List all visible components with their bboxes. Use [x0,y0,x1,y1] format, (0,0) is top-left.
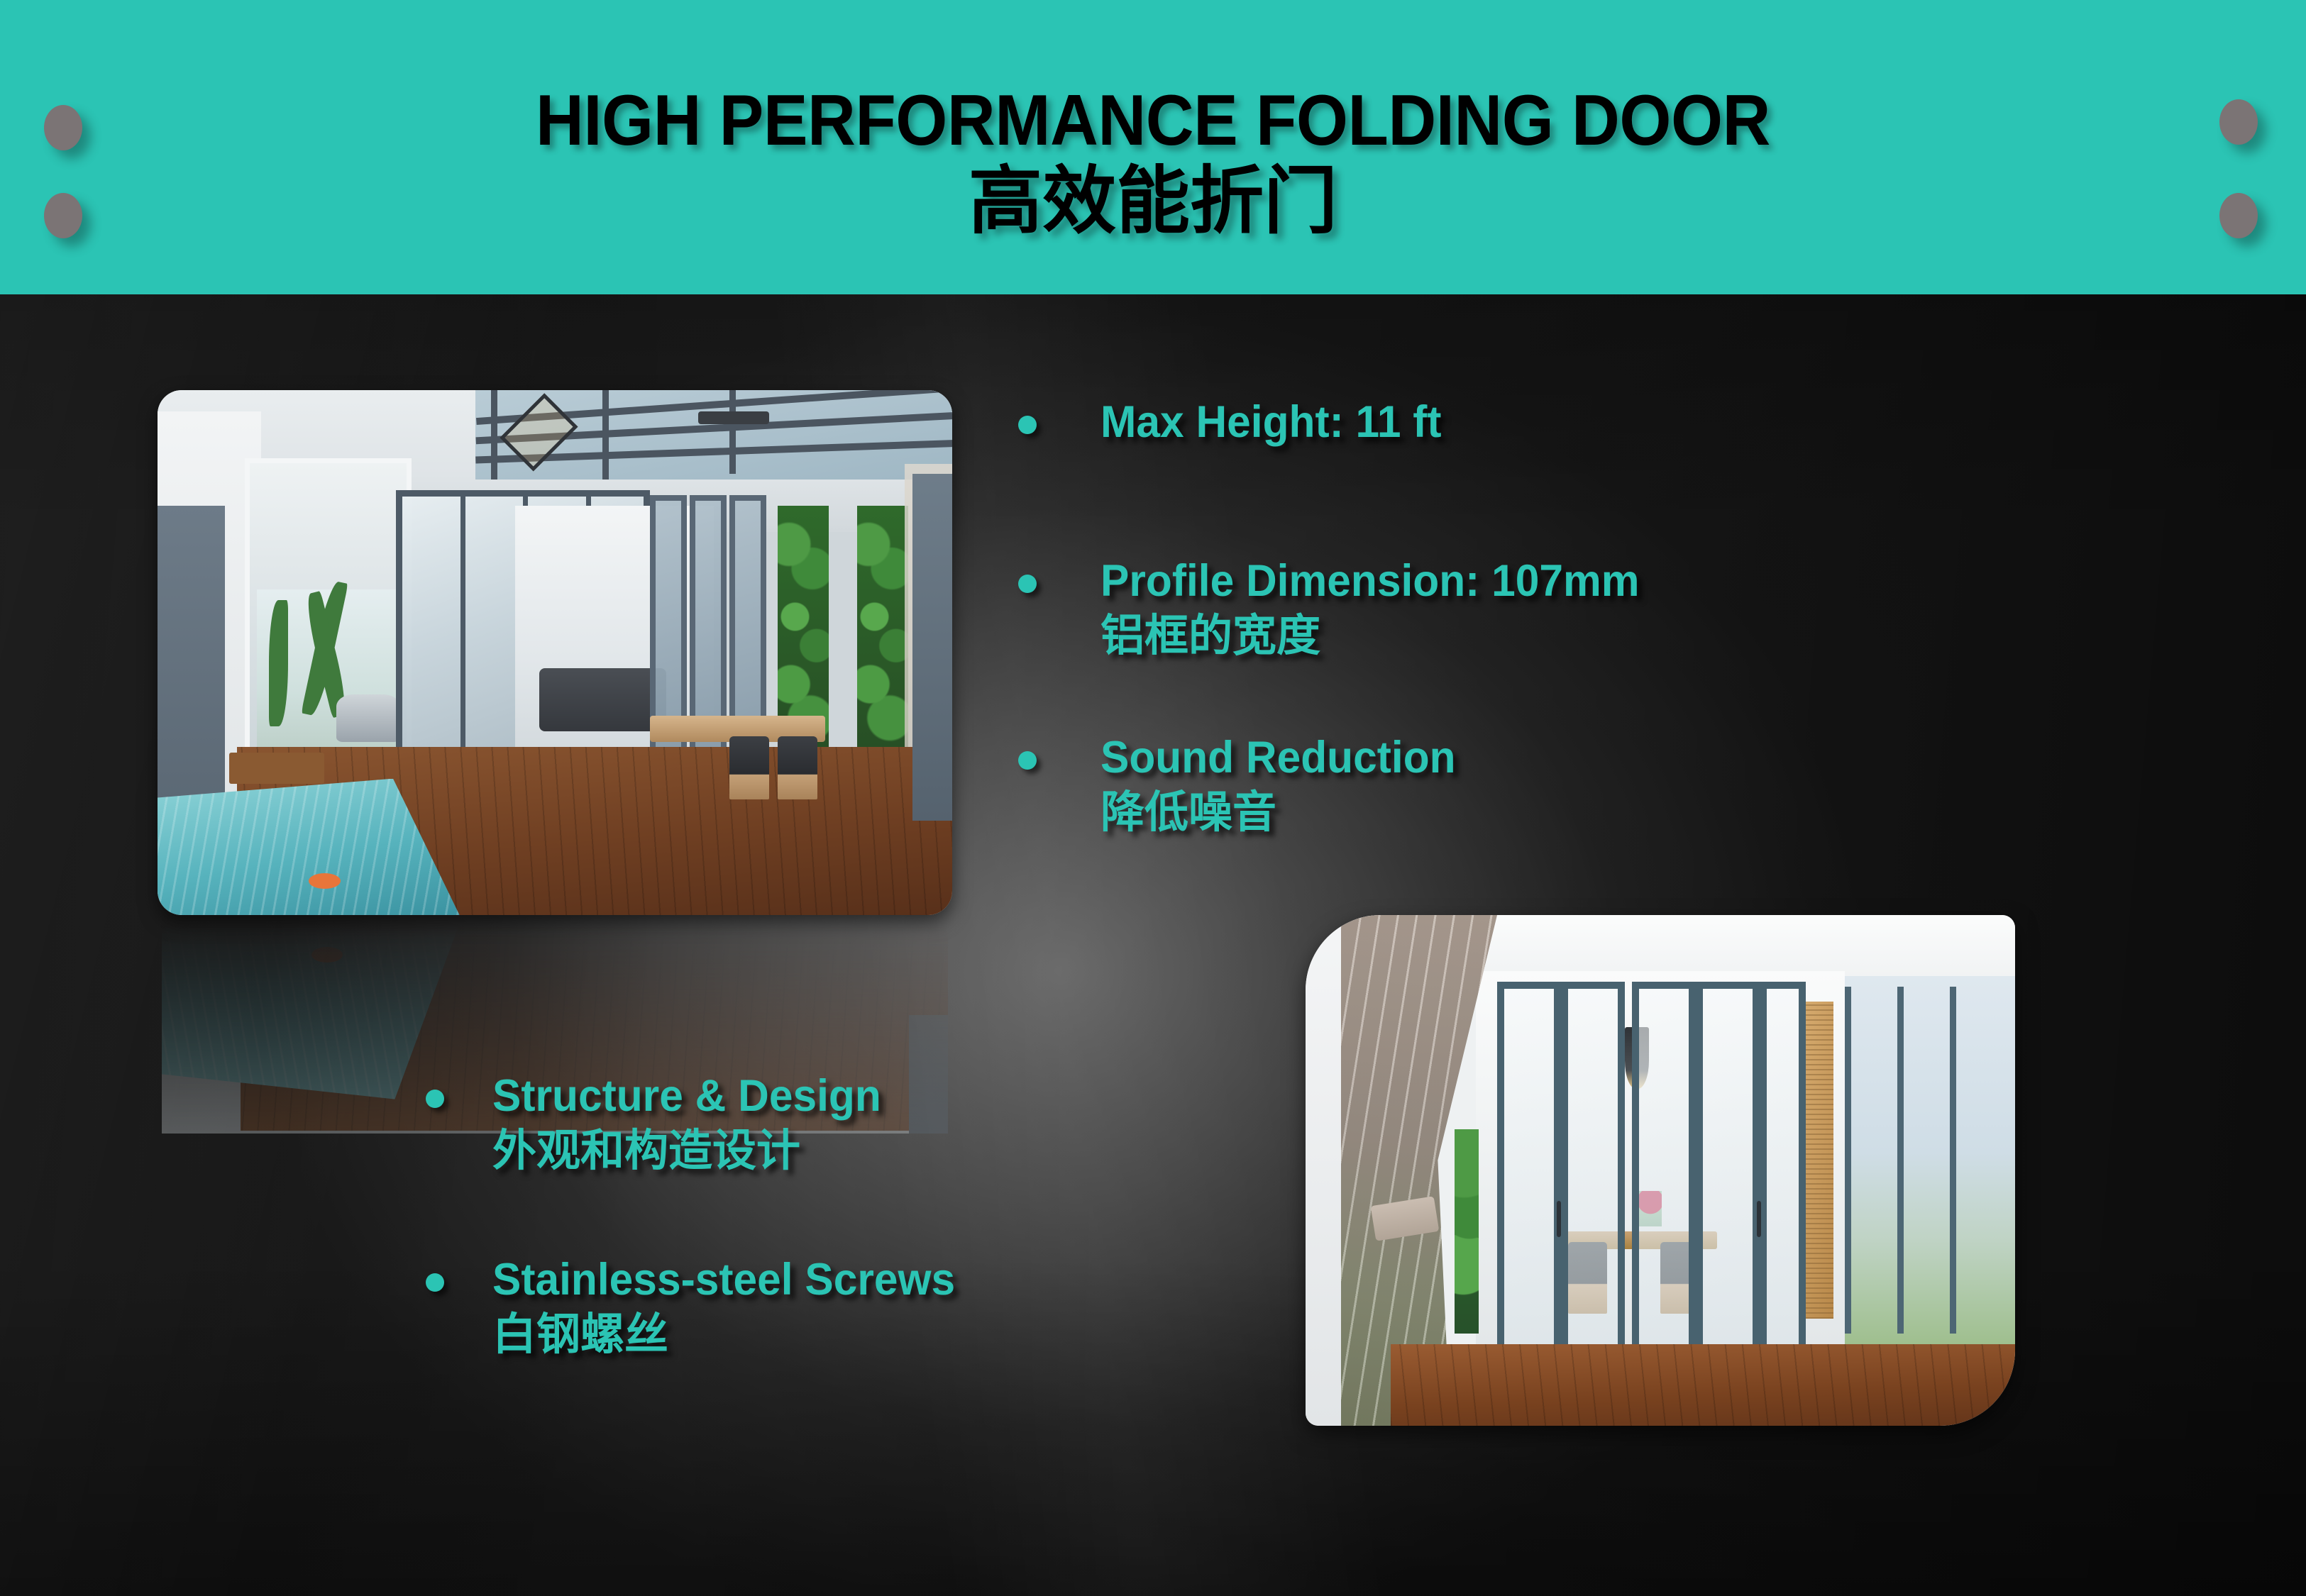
feature-label-zh: 白钢螺丝 [492,1307,974,1361]
header-title-group: HIGH PERFORMANCE FOLDING DOOR 高效能折门 [0,85,2306,242]
folding-door-curtain-photo [1306,915,2015,1426]
feature-label-zh: 降低噪音 [1100,785,1470,839]
list-item[interactable]: Max Height: 11 ft [1018,397,2182,448]
bullet-dot-icon [426,1273,444,1292]
feature-label-en: Profile Dimension: 107mm [1100,556,1640,607]
feature-list-right: Max Height: 11 ft Profile Dimension: 107… [1018,397,2182,839]
list-item[interactable]: Stainless-steel Screws 白钢螺丝 [426,1255,1313,1361]
list-item[interactable]: Sound Reduction 降低噪音 [1018,733,2182,838]
photo-1-scene [158,390,952,915]
feature-label-en: Stainless-steel Screws [492,1255,955,1306]
feature-label-zh: 外观和构造设计 [492,1124,898,1177]
list-item[interactable]: Structure & Design 外观和构造设计 [426,1071,1313,1177]
folding-door-interior-pool-photo [158,390,952,915]
feature-label-en: Max Height: 11 ft [1100,397,1442,448]
slide-title-chinese: 高效能折门 [0,160,2306,242]
slide-title-english: HIGH PERFORMANCE FOLDING DOOR [81,85,2226,157]
feature-label-en: Sound Reduction [1100,733,1456,784]
feature-label-zh: 铝框的宽度 [1100,609,1662,663]
photo-2-scene [1306,915,2015,1426]
bullet-dot-icon [426,1090,444,1108]
feature-list-left: Structure & Design 外观和构造设计 Stainless-ste… [426,1071,1313,1361]
feature-label-en: Structure & Design [492,1071,881,1122]
photo-1-frame [158,390,952,915]
slide: HIGH PERFORMANCE FOLDING DOOR 高效能折门 [0,0,2306,1596]
list-item[interactable]: Profile Dimension: 107mm 铝框的宽度 [1018,556,2182,662]
bullet-dot-icon [1018,575,1037,593]
bullet-dot-icon [1018,751,1037,770]
bullet-dot-icon [1018,416,1037,434]
slide-header-band: HIGH PERFORMANCE FOLDING DOOR 高效能折门 [0,0,2306,294]
